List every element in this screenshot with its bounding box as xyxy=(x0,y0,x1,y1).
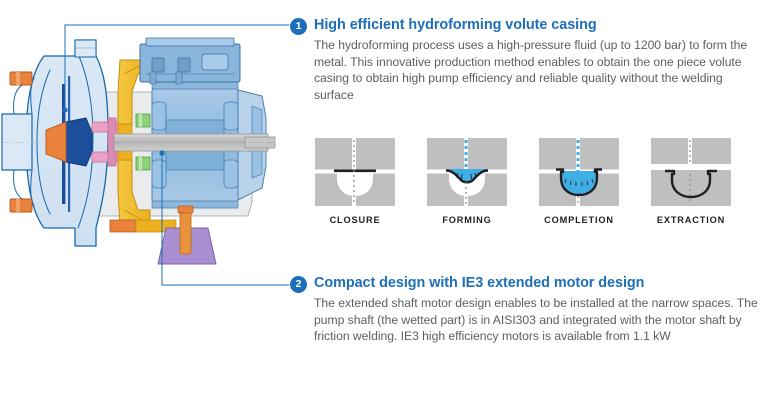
extraction-figure xyxy=(651,138,731,206)
terminal-box xyxy=(140,38,240,84)
process-label-closure: CLOSURE xyxy=(330,215,381,225)
hydroforming-process-steps: CLOSURE xyxy=(315,138,755,233)
callout-1-badge: 1 xyxy=(290,18,307,35)
callout-2-title: Compact design with IE3 extended motor d… xyxy=(314,274,644,292)
closure-figure xyxy=(315,138,395,206)
process-step-extraction: EXTRACTION xyxy=(651,138,731,233)
process-step-forming: FORMING xyxy=(427,138,507,233)
forming-figure xyxy=(427,138,507,206)
callout-2-header: 2 Compact design with IE3 extended motor… xyxy=(290,274,760,293)
callout-1-body: The hydroforming process uses a high-pre… xyxy=(314,37,760,103)
callout-2-body: The extended shaft motor design enables … xyxy=(314,295,760,345)
callout-2: 2 Compact design with IE3 extended motor… xyxy=(290,274,760,345)
process-label-extraction: EXTRACTION xyxy=(657,215,725,225)
completion-figure xyxy=(539,138,619,206)
flange-bolt-upper xyxy=(10,72,32,85)
callout-1-header: 1 High efficient hydroforming volute cas… xyxy=(290,16,760,35)
pump-cross-section-illustration xyxy=(0,14,300,276)
pump-shaft xyxy=(114,134,275,151)
callout-1: 1 High efficient hydroforming volute cas… xyxy=(290,16,760,103)
callout-2-badge: 2 xyxy=(290,276,307,293)
flange-bolt-lower xyxy=(10,199,32,212)
process-step-completion: COMPLETION xyxy=(539,138,619,233)
process-step-closure: CLOSURE xyxy=(315,138,395,233)
process-label-forming: FORMING xyxy=(442,215,491,225)
callout-1-title: High efficient hydroforming volute casin… xyxy=(314,16,597,34)
process-label-completion: COMPLETION xyxy=(544,215,614,225)
product-feature-diagram: 1 High efficient hydroforming volute cas… xyxy=(0,0,768,407)
